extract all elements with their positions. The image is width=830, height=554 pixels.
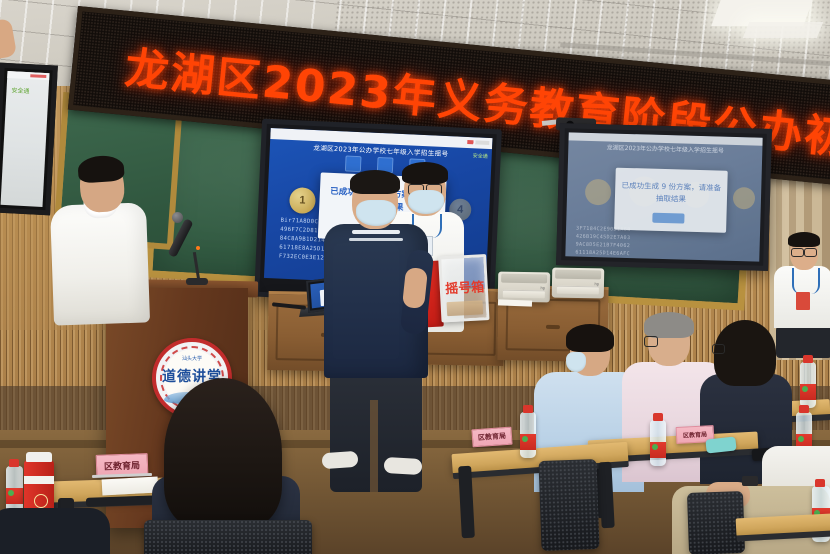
window-controls[interactable] [467,140,489,145]
cabinet-handle[interactable] [546,325,560,329]
staff-hair [402,162,448,184]
name-plate: 区教育局 [471,427,512,448]
audience-desk [736,514,830,537]
face-mask [356,200,396,226]
chair[interactable] [144,520,312,554]
left-display-titlebar [7,71,49,80]
water-bottle [520,412,536,458]
ballot-box-label: 摇号箱 [441,276,488,297]
presentation-icon[interactable] [345,155,362,172]
secondary-coin [585,179,612,206]
glasses-icon [644,336,658,347]
thermos-band [24,476,54,484]
emblem-top-text: 汕头大学 [156,355,228,362]
seated-staff-hair [788,232,820,247]
face-mask [408,190,444,214]
wristwatch [742,476,758,486]
polo-stripe [352,230,400,234]
secondary-coin [733,187,756,210]
microphone-status-led [196,246,200,250]
bottle-cap [653,413,663,421]
speaker-torso [50,202,150,325]
printer-output-tray [501,274,547,284]
shoe [321,451,358,469]
glasses-icon [791,248,804,257]
secondary-screen-surface: 龙湖区2023年公办学校七年级入学招生摇号 3F7184C2E90D1A6B 4… [565,132,762,261]
shoe [384,457,423,475]
glasses-icon [712,344,725,354]
water-bottle [800,362,816,408]
polo-stripe [349,238,403,241]
printer-output-tray [555,270,601,280]
printer-paper-tray[interactable] [503,290,545,299]
bottle-cap [803,355,813,363]
chair-mesh [538,459,599,551]
leg-gap [370,400,378,492]
bottle-logo-icon [652,444,658,450]
bottle-cap [9,459,19,467]
left-display-logo: 安全通 [11,85,29,95]
secondary-projection-screen: 龙湖区2023年公办学校七年级入学招生摇号 3F7184C2E90D1A6B 4… [556,123,772,271]
ballot-slips [447,300,484,316]
app-logo: 安全通 [473,152,488,160]
id-badge [796,292,810,310]
bottle-logo-icon [8,490,14,496]
printer-brand-label: hp [594,281,599,286]
chair[interactable] [538,459,599,551]
audience-hair [644,312,694,338]
glasses-icon [804,248,817,257]
water-bottle [650,420,666,466]
printer[interactable]: hp [498,272,551,303]
secondary-dialog-message: 已成功生成 9 份方案，请准备抽取结果 [621,180,722,207]
microphone-head-icon [172,212,183,223]
audience-hair [566,324,614,352]
lanyard [792,268,820,294]
left-display-close-chip[interactable] [30,74,46,78]
bottle-logo-icon [798,436,804,442]
man-hair [350,170,400,194]
bottle-logo-icon [522,436,528,442]
printed-papers [498,299,532,306]
chair-mesh [144,520,312,554]
audience-long-hair [164,378,282,528]
printer[interactable]: hp [552,268,605,299]
thermos-lid [26,452,52,462]
printer-paper-tray[interactable] [557,286,599,295]
left-wall-display[interactable]: 安全通 [0,63,58,216]
lottery-coin-1: 1 [289,187,316,214]
left-wall-display-screen: 安全通 [1,71,50,207]
secondary-dialog-button [652,213,684,224]
bottle-cap [815,479,825,487]
seated-staff-legs [776,326,830,358]
face-mask [566,352,586,372]
bottle-cap [799,405,809,413]
bottle-cap [523,405,533,413]
photo-scene: 龙湖区2023年义务教育阶段公办初中招生摇号录取现场会 安全通 龙湖区2023年… [0,0,830,554]
thermos-logo-icon [34,494,48,508]
printer-brand-label: hp [540,285,545,290]
documents [102,477,159,496]
secondary-dialog: 已成功生成 9 份方案，请准备抽取结果 [614,168,728,233]
bottle-logo-icon [802,386,808,392]
ceiling-light-secondary [743,22,823,38]
audience-torso [0,508,110,554]
